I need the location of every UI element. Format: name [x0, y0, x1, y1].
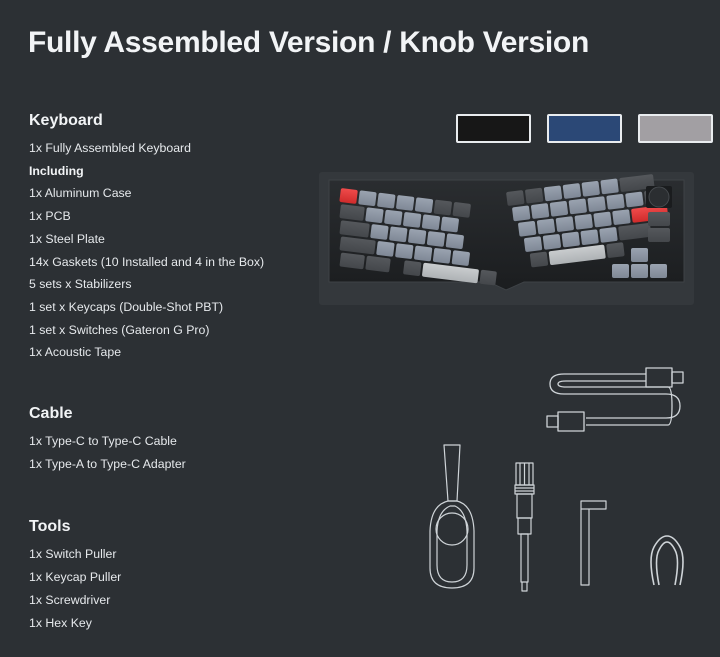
- spec-item: 1x Hex Key: [29, 612, 319, 635]
- color-swatch-carbon-black[interactable]: [456, 114, 531, 143]
- color-swatch-silver-grey[interactable]: [638, 114, 713, 143]
- spec-item: 1x Acoustic Tape: [29, 341, 319, 364]
- page-title: Fully Assembled Version / Knob Version: [28, 26, 589, 60]
- section-heading-cable: Cable: [29, 403, 319, 425]
- color-swatch-navy-blue[interactable]: [547, 114, 622, 143]
- spec-item: 1x Type-A to Type-C Adapter: [29, 453, 319, 476]
- hex-key-tool: [581, 501, 606, 585]
- spec-item: 5 sets x Stabilizers: [29, 273, 319, 296]
- spec-item: 1 set x Keycaps (Double-Shot PBT): [29, 296, 319, 319]
- spec-item: 1x Fully Assembled Keyboard: [29, 137, 319, 160]
- spec-item: 1x Steel Plate: [29, 228, 319, 251]
- spec-item: 1x Type-C to Type-C Cable: [29, 430, 319, 453]
- section-tools: Tools 1x Switch Puller 1x Keycap Puller …: [29, 516, 319, 634]
- switch-puller-tool: [430, 445, 474, 588]
- spec-item-including: Including: [29, 160, 319, 183]
- spec-item: 1 set x Switches (Gateron G Pro): [29, 319, 319, 342]
- spec-item: 1x Screwdriver: [29, 589, 319, 612]
- section-heading-keyboard: Keyboard: [29, 110, 319, 132]
- spec-item: 1x Keycap Puller: [29, 566, 319, 589]
- keyboard-svg: [319, 172, 694, 305]
- keyboard-knob[interactable]: [646, 186, 672, 208]
- spec-list: Keyboard 1x Fully Assembled Keyboard Inc…: [29, 110, 319, 634]
- keyboard-illustration: [319, 172, 694, 305]
- section-keyboard: Keyboard 1x Fully Assembled Keyboard Inc…: [29, 110, 319, 364]
- section-heading-tools: Tools: [29, 516, 319, 538]
- section-cable: Cable 1x Type-C to Type-C Cable 1x Type-…: [29, 403, 319, 475]
- spec-item: 1x Aluminum Case: [29, 182, 319, 205]
- color-swatch-row: [456, 114, 713, 143]
- spec-item: 1x Switch Puller: [29, 543, 319, 566]
- cable-illustration: [540, 356, 695, 456]
- spec-item: 1x PCB: [29, 205, 319, 228]
- screwdriver-tool: [515, 463, 534, 591]
- tools-illustration: [415, 443, 705, 603]
- keycap-puller-tool: [651, 536, 683, 585]
- spec-item: 14x Gaskets (10 Installed and 4 in the B…: [29, 251, 319, 274]
